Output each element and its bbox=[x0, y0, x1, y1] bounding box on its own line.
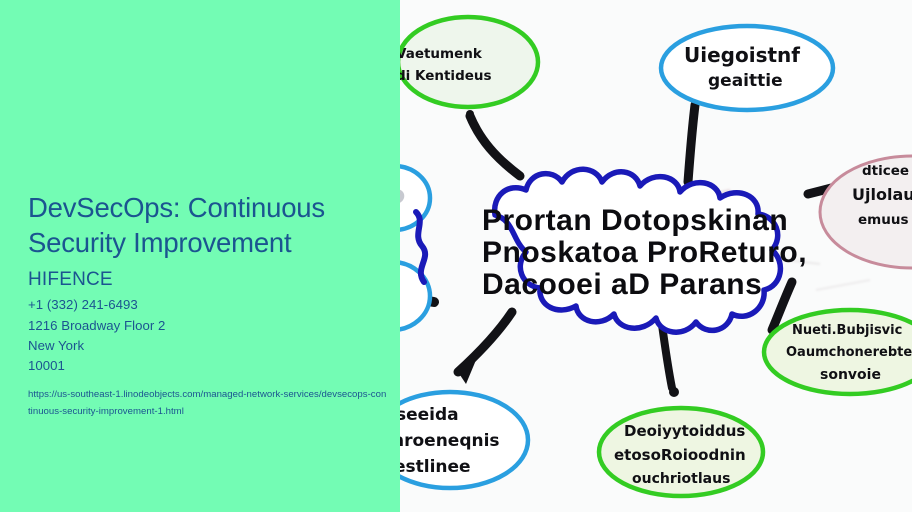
branch-right-pink-line-2: Ujlolaugiie bbox=[852, 185, 912, 204]
branch-top-left-outline bbox=[400, 17, 538, 107]
company-name: HIFENCE bbox=[28, 268, 388, 292]
branch-top-right-line-2: geaittie bbox=[708, 71, 783, 91]
branch-node-top-left: Vaetumenk di Kentideus bbox=[400, 17, 538, 107]
contact-city: New York bbox=[28, 336, 388, 356]
contact-address-line1: 1216 Broadway Floor 2 bbox=[28, 316, 388, 336]
branch-bottom-right-line-2: Oaumchonerebten bbox=[786, 345, 912, 360]
source-url-link[interactable]: https://us-southeast-1.linodeobjects.com… bbox=[28, 387, 388, 421]
branch-top-left-line-2: di Kentideus bbox=[400, 68, 492, 84]
branch-node-bottom-center-green: Deoiyytoiddus etosoRoioodnin ouchriotlau… bbox=[599, 408, 763, 496]
branch-bottom-right-line-3: sonvoie bbox=[820, 367, 881, 383]
branch-right-pink-line-3: emuus bbox=[858, 212, 908, 228]
branch-bottom-center-line-3: ouchriotlaus bbox=[632, 471, 730, 487]
contact-zip: 10001 bbox=[28, 356, 388, 376]
center-node-line-2: Pnoskatoa ProReturo, bbox=[482, 236, 807, 269]
branch-bottom-left-line-1: seeida bbox=[400, 405, 459, 425]
left-panel-content: DevSecOps: Continuous Security Improveme… bbox=[28, 190, 388, 421]
branch-top-left-line-1: Vaetumenk bbox=[400, 46, 483, 62]
branch-node-bottom-left-blue: seeida nroeneqnis estlinee bbox=[400, 392, 528, 488]
branch-bottom-center-line-1: Deoiyytoiddus bbox=[624, 422, 745, 440]
branch-top-right-line-1: Uiegoistnf bbox=[684, 43, 800, 67]
branch-top-right-outline bbox=[661, 26, 833, 110]
mindmap-image: Prortan Dotopskinan Pnoskatoa ProReturo,… bbox=[400, 0, 912, 512]
branch-right-pink-line-1: dticee bbox=[862, 163, 909, 179]
branch-node-top-right: Uiegoistnf geaittie bbox=[661, 26, 833, 110]
center-node-line-3: Dacooei aD Parans bbox=[482, 268, 762, 301]
mindmap-illustration-panel: Prortan Dotopskinan Pnoskatoa ProReturo,… bbox=[400, 0, 912, 512]
branch-node-bottom-right-green: Nueti.Bubjisvic Oaumchonerebten sonvoie bbox=[764, 310, 912, 394]
left-info-panel: DevSecOps: Continuous Security Improveme… bbox=[0, 0, 400, 512]
branch-bottom-left-line-2: nroeneqnis bbox=[400, 431, 500, 451]
branch-bottom-left-line-3: estlinee bbox=[400, 457, 471, 477]
branch-bottom-center-line-2: etosoRoioodnin bbox=[614, 446, 746, 464]
page-root: DevSecOps: Continuous Security Improveme… bbox=[0, 0, 912, 512]
page-title: DevSecOps: Continuous Security Improveme… bbox=[28, 190, 388, 260]
branch-bottom-right-line-1: Nueti.Bubjisvic bbox=[792, 323, 902, 338]
contact-phone: +1 (332) 241-6493 bbox=[28, 295, 388, 315]
center-node-line-1: Prortan Dotopskinan bbox=[482, 204, 788, 237]
